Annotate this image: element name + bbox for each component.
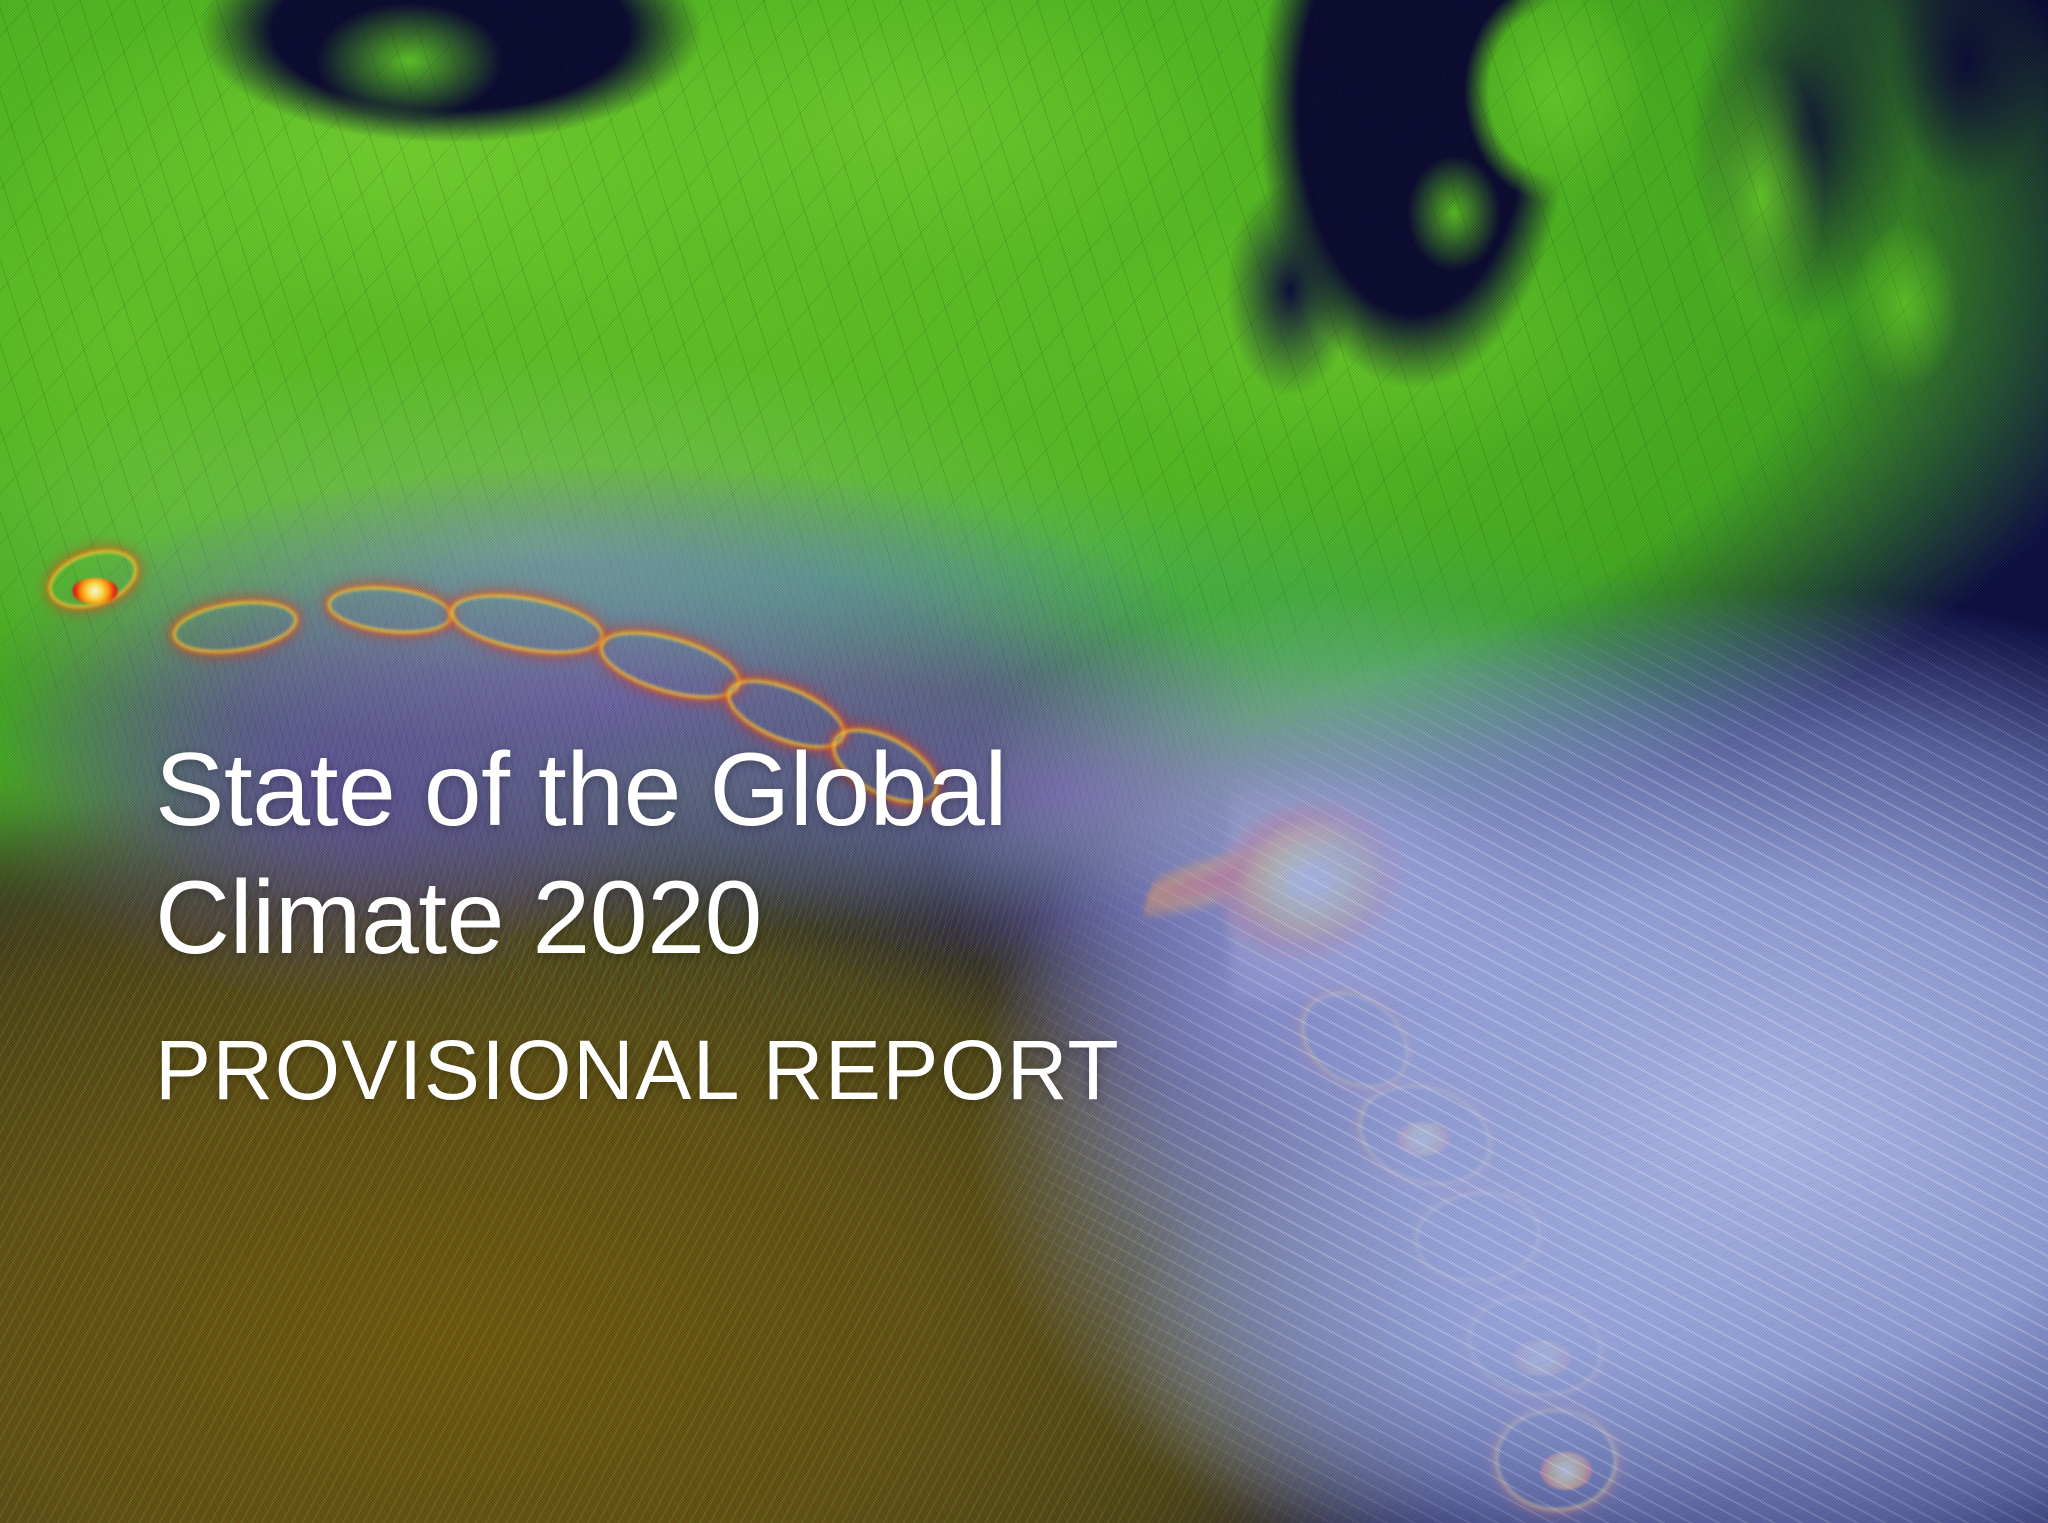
report-title-line-2: Climate 2020 — [155, 854, 1495, 982]
report-cover-page: State of the Global Climate 2020 PROVISI… — [0, 0, 2048, 1523]
report-subtitle: PROVISIONAL REPORT — [155, 1024, 1495, 1116]
report-title-line-1: State of the Global — [155, 726, 1495, 854]
cover-title-block: State of the Global Climate 2020 PROVISI… — [155, 726, 1495, 1116]
